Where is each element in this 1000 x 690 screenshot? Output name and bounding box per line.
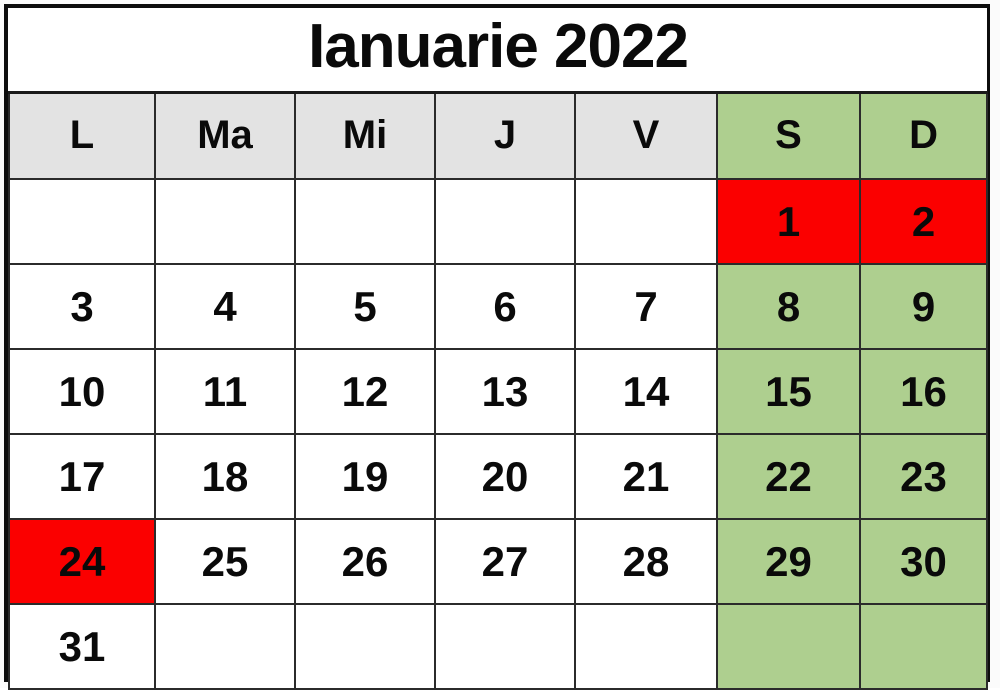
day-number: 14 (577, 371, 715, 413)
day-cell-21[interactable]: 21 (575, 434, 717, 519)
day-cell-empty (155, 604, 295, 689)
day-cell-5[interactable]: 5 (295, 264, 435, 349)
weekday-header-label: Mi (343, 113, 387, 157)
calendar-frame: Ianuarie 2022 LMaMiJVSD 1234567891011121… (4, 4, 990, 682)
day-cell-empty (717, 604, 860, 689)
day-number: 16 (862, 371, 985, 413)
weekday-header-label: D (909, 113, 938, 157)
day-cell-24[interactable]: 24 (9, 519, 155, 604)
day-number: 1 (719, 201, 858, 243)
weekday-header-joi: J (435, 92, 575, 179)
day-cell-empty (575, 604, 717, 689)
day-number: 27 (437, 541, 573, 583)
day-cell-empty (155, 179, 295, 264)
weekday-header-label: S (775, 113, 802, 157)
day-cell-29[interactable]: 29 (717, 519, 860, 604)
day-cell-13[interactable]: 13 (435, 349, 575, 434)
weekday-header-luni: L (9, 92, 155, 179)
calendar-title-cell: Ianuarie 2022 (9, 8, 987, 92)
day-cell-empty (435, 604, 575, 689)
weekday-header-marti: Ma (155, 92, 295, 179)
day-cell-27[interactable]: 27 (435, 519, 575, 604)
day-number: 19 (297, 456, 433, 498)
day-cell-3[interactable]: 3 (9, 264, 155, 349)
day-number: 28 (577, 541, 715, 583)
calendar-week-row: 3456789 (9, 264, 987, 349)
day-cell-16[interactable]: 16 (860, 349, 987, 434)
weekday-header-label: L (70, 113, 94, 157)
day-cell-4[interactable]: 4 (155, 264, 295, 349)
day-number: 11 (157, 371, 293, 413)
day-cell-empty (860, 604, 987, 689)
day-cell-20[interactable]: 20 (435, 434, 575, 519)
day-cell-1[interactable]: 1 (717, 179, 860, 264)
day-number: 29 (719, 541, 858, 583)
day-number: 7 (577, 286, 715, 328)
day-number: 4 (157, 286, 293, 328)
day-number: 12 (297, 371, 433, 413)
weekday-header-label: V (633, 113, 660, 157)
calendar-root: Ianuarie 2022 LMaMiJVSD 1234567891011121… (0, 0, 1000, 688)
day-number: 26 (297, 541, 433, 583)
day-cell-2[interactable]: 2 (860, 179, 987, 264)
day-cell-6[interactable]: 6 (435, 264, 575, 349)
calendar-week-row: 17181920212223 (9, 434, 987, 519)
day-cell-31[interactable]: 31 (9, 604, 155, 689)
weekday-header-label: J (494, 113, 516, 157)
day-cell-28[interactable]: 28 (575, 519, 717, 604)
day-number: 15 (719, 371, 858, 413)
day-cell-empty (435, 179, 575, 264)
day-cell-22[interactable]: 22 (717, 434, 860, 519)
day-number: 2 (862, 201, 985, 243)
day-number: 8 (719, 286, 858, 328)
day-number: 9 (862, 286, 985, 328)
day-number: 31 (11, 626, 153, 668)
day-cell-7[interactable]: 7 (575, 264, 717, 349)
day-number: 22 (719, 456, 858, 498)
day-cell-12[interactable]: 12 (295, 349, 435, 434)
day-cell-empty (575, 179, 717, 264)
calendar-title-row: Ianuarie 2022 (9, 8, 987, 92)
day-number: 5 (297, 286, 433, 328)
weekday-header-miercuri: Mi (295, 92, 435, 179)
day-cell-18[interactable]: 18 (155, 434, 295, 519)
day-cell-17[interactable]: 17 (9, 434, 155, 519)
calendar-week-row: 24252627282930 (9, 519, 987, 604)
calendar-week-row: 10111213141516 (9, 349, 987, 434)
day-number: 18 (157, 456, 293, 498)
day-cell-23[interactable]: 23 (860, 434, 987, 519)
day-number: 21 (577, 456, 715, 498)
day-cell-empty (295, 179, 435, 264)
day-number: 6 (437, 286, 573, 328)
day-cell-10[interactable]: 10 (9, 349, 155, 434)
day-cell-11[interactable]: 11 (155, 349, 295, 434)
day-number: 13 (437, 371, 573, 413)
day-number: 3 (11, 286, 153, 328)
day-cell-15[interactable]: 15 (717, 349, 860, 434)
day-number: 10 (11, 371, 153, 413)
calendar-body: Ianuarie 2022 LMaMiJVSD 1234567891011121… (9, 8, 987, 689)
weekday-header-label: Ma (197, 113, 253, 157)
day-number: 24 (11, 541, 153, 583)
day-number: 23 (862, 456, 985, 498)
calendar-week-row: 12 (9, 179, 987, 264)
day-cell-30[interactable]: 30 (860, 519, 987, 604)
day-cell-26[interactable]: 26 (295, 519, 435, 604)
day-cell-14[interactable]: 14 (575, 349, 717, 434)
weekday-header-sambata: S (717, 92, 860, 179)
day-cell-25[interactable]: 25 (155, 519, 295, 604)
day-number: 17 (11, 456, 153, 498)
weekday-header-row: LMaMiJVSD (9, 92, 987, 179)
day-cell-empty (9, 179, 155, 264)
day-number: 20 (437, 456, 573, 498)
day-cell-19[interactable]: 19 (295, 434, 435, 519)
page-title: Ianuarie 2022 (9, 16, 987, 78)
calendar-table: Ianuarie 2022 LMaMiJVSD 1234567891011121… (8, 8, 988, 690)
calendar-week-row: 31 (9, 604, 987, 689)
day-number: 30 (862, 541, 985, 583)
weekday-header-vineri: V (575, 92, 717, 179)
weekday-header-duminica: D (860, 92, 987, 179)
day-cell-empty (295, 604, 435, 689)
day-number: 25 (157, 541, 293, 583)
day-cell-8[interactable]: 8 (717, 264, 860, 349)
day-cell-9[interactable]: 9 (860, 264, 987, 349)
